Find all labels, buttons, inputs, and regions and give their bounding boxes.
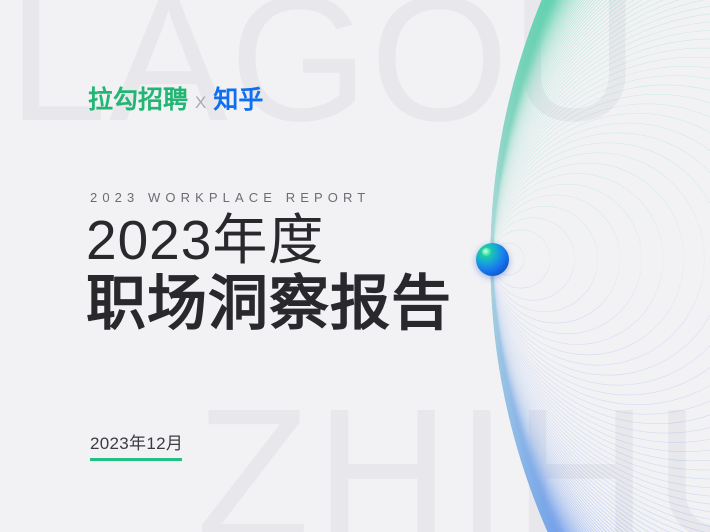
page-title-line-1: 2023年度 bbox=[86, 211, 324, 270]
page-title-line-2: 职场洞察报告 bbox=[86, 272, 452, 337]
publication-date-text: 2023年12月 bbox=[90, 429, 183, 454]
logo-zhihu-text: 知乎 bbox=[213, 80, 263, 116]
date-underline-rule bbox=[90, 458, 182, 461]
sphere-highlight bbox=[482, 248, 491, 256]
gradient-sphere bbox=[476, 243, 509, 276]
report-cover-slide: LAGOU ZHIHU 拉勾招聘 X 知乎 2023 WO bbox=[0, 0, 710, 532]
publication-date-block: 2023年12月 bbox=[90, 429, 183, 461]
logo-separator-x: X bbox=[195, 93, 206, 113]
eyebrow-label: 2023 WORKPLACE REPORT bbox=[90, 190, 370, 205]
logo-lagou-text: 拉勾招聘 bbox=[88, 80, 188, 116]
cobrand-logo-row: 拉勾招聘 X 知乎 bbox=[88, 80, 263, 116]
